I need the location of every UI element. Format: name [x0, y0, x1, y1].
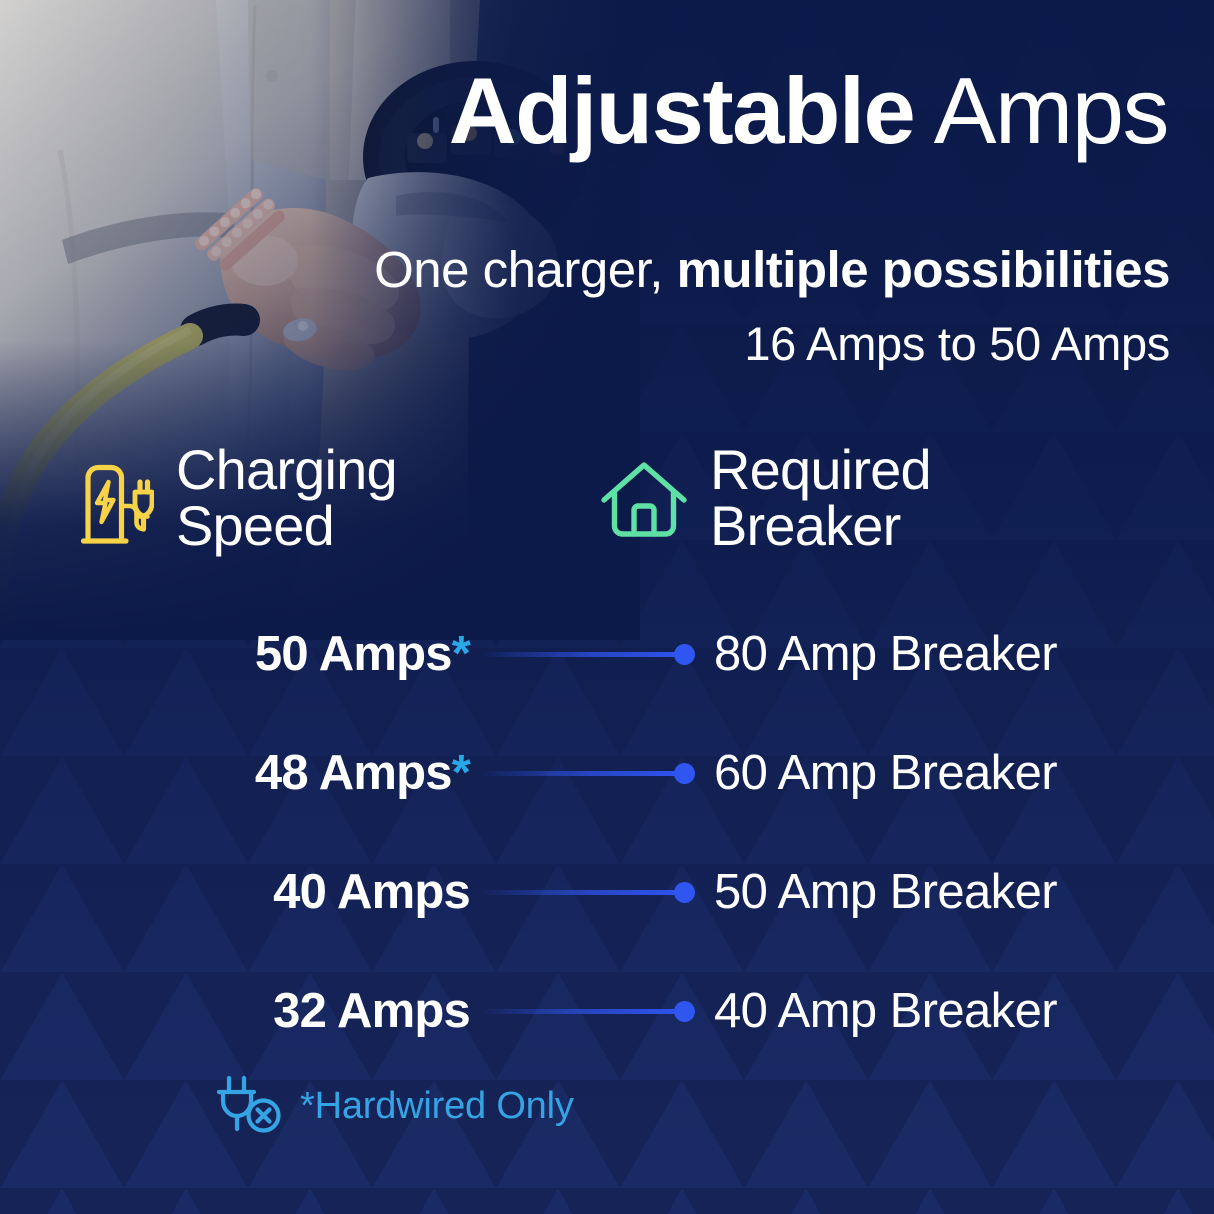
- footnote: *Hardwired Only: [216, 1072, 574, 1141]
- connector-line: [480, 652, 680, 657]
- required-breaker-value: 40 Amp Breaker: [714, 975, 1057, 1047]
- required-breaker-value: 50 Amp Breaker: [714, 856, 1057, 928]
- ev-charging-station-icon: [78, 460, 154, 551]
- house-icon: [600, 460, 688, 545]
- subtitle-bold: multiple possibilities: [677, 241, 1170, 298]
- column-header-required-breaker: Required Breaker: [600, 442, 931, 554]
- plug-disabled-icon: [216, 1074, 282, 1141]
- connector-line: [480, 890, 680, 895]
- page-title-light: Amps: [914, 58, 1168, 163]
- page-title-bold: Adjustable: [449, 58, 915, 163]
- row-connector: [480, 767, 695, 779]
- connector-dot: [674, 644, 695, 665]
- charging-speed-value: 48 Amps*: [0, 737, 470, 809]
- hardwired-asterisk: *: [452, 746, 470, 800]
- row-connector: [480, 886, 695, 898]
- table-row: 32 Amps 40 Amp Breaker: [0, 975, 1214, 1047]
- column-header-label: Charging Speed: [176, 442, 397, 554]
- required-breaker-value: 80 Amp Breaker: [714, 618, 1057, 690]
- speed-text: 32 Amps: [273, 984, 470, 1038]
- subtitle-range: 16 Amps to 50 Amps: [240, 318, 1170, 370]
- charging-speed-value: 32 Amps: [0, 975, 470, 1047]
- subtitle-light: One charger,: [374, 241, 677, 298]
- infographic-poster: Adjustable Amps One charger, multiple po…: [0, 0, 1214, 1214]
- charging-speed-value: 50 Amps*: [0, 618, 470, 690]
- connector-dot: [674, 882, 695, 903]
- column-header-charging-speed: Charging Speed: [78, 442, 397, 554]
- subtitle: One charger, multiple possibilities: [240, 242, 1170, 297]
- charging-speed-value: 40 Amps: [0, 856, 470, 928]
- page-title: Adjustable Amps: [400, 60, 1168, 162]
- speed-text: 48 Amps: [255, 746, 452, 800]
- required-breaker-value: 60 Amp Breaker: [714, 737, 1057, 809]
- row-connector: [480, 648, 695, 660]
- connector-line: [480, 1009, 680, 1014]
- speed-text: 50 Amps: [255, 627, 452, 681]
- connector-dot: [674, 1001, 695, 1022]
- column-header-label: Required Breaker: [710, 442, 931, 554]
- table-row: 48 Amps* 60 Amp Breaker: [0, 737, 1214, 809]
- connector-line: [480, 771, 680, 776]
- speed-text: 40 Amps: [273, 865, 470, 919]
- footnote-label: *Hardwired Only: [300, 1085, 574, 1128]
- row-connector: [480, 1005, 695, 1017]
- connector-dot: [674, 763, 695, 784]
- hardwired-asterisk: *: [452, 627, 470, 681]
- table-row: 40 Amps 50 Amp Breaker: [0, 856, 1214, 928]
- table-row: 50 Amps* 80 Amp Breaker: [0, 618, 1214, 690]
